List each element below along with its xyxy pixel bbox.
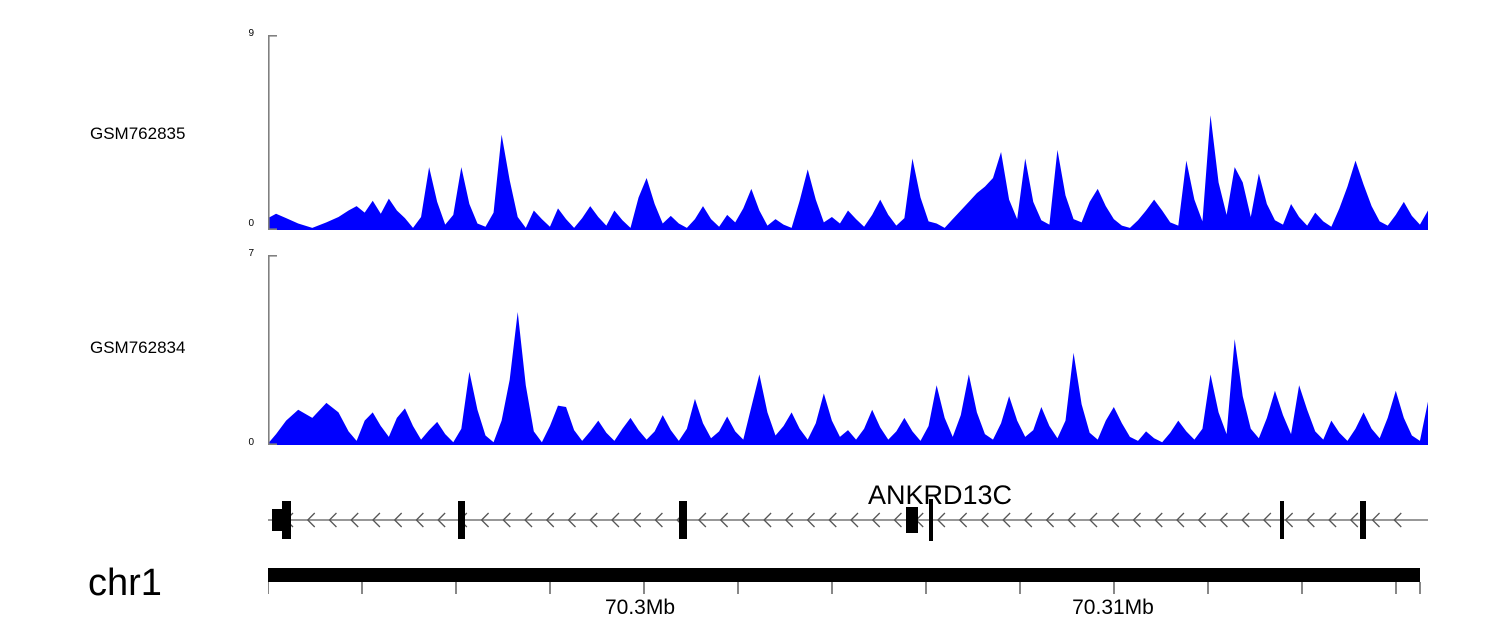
ruler-tick-label-0: 70.3Mb bbox=[530, 596, 750, 620]
gene-model-glyph bbox=[268, 478, 1428, 558]
track-1-axis-min: 0 bbox=[228, 437, 254, 448]
signal-area-gsm762835 bbox=[268, 35, 1428, 230]
ruler-tick-label-1: 70.31Mb bbox=[1003, 596, 1223, 620]
track-0-axis-max: 9 bbox=[228, 28, 254, 39]
track-1-axis-max: 7 bbox=[228, 248, 254, 259]
signal-area-gsm762834 bbox=[268, 255, 1428, 445]
signal-track-gsm762834[interactable] bbox=[268, 255, 1428, 445]
track-label-gsm762834: GSM762834 bbox=[90, 338, 185, 358]
chromosome-label: chr1 bbox=[88, 562, 162, 605]
gene-model-track[interactable] bbox=[268, 478, 1428, 558]
track-0-axis-min: 0 bbox=[228, 218, 254, 229]
genome-browser-canvas: GSM762835 9 0 GSM762834 7 0 ANKRD13C chr… bbox=[0, 0, 1500, 640]
chromosome-ruler[interactable] bbox=[268, 566, 1428, 638]
signal-track-gsm762835[interactable] bbox=[268, 35, 1428, 230]
ruler-bar-and-ticks bbox=[268, 566, 1428, 638]
track-label-gsm762835: GSM762835 bbox=[90, 124, 185, 144]
